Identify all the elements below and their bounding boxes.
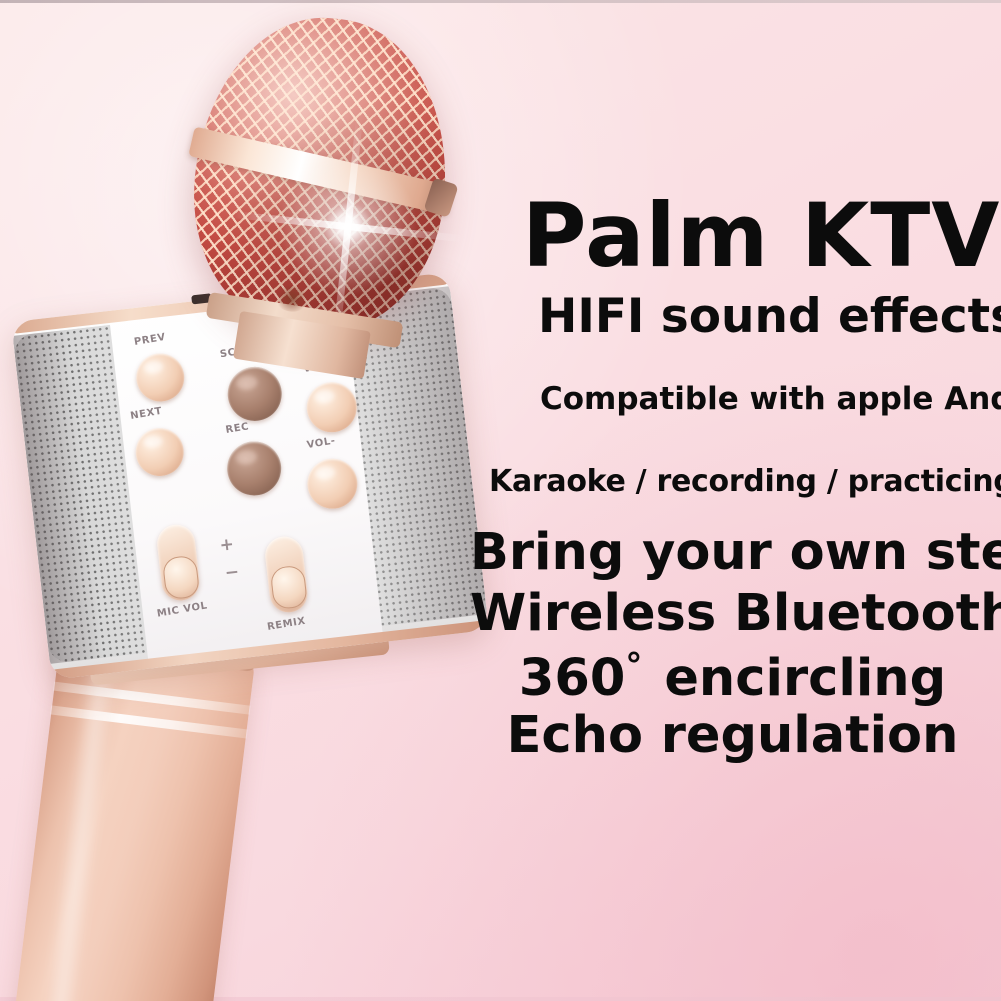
marketing-copy: Palm KTV HIFI sound effects Compatible w… — [470, 160, 995, 800]
prev-label: PREV — [133, 332, 166, 348]
scan-button[interactable] — [225, 364, 285, 424]
next-button[interactable] — [133, 426, 186, 479]
remix-slider[interactable] — [263, 535, 309, 615]
product-subtitle: HIFI sound effects — [538, 293, 1001, 340]
next-label: NEXT — [130, 406, 164, 422]
volume-up-button[interactable] — [304, 380, 359, 435]
microphone-head — [180, 6, 461, 340]
product-image-microphone: PREV NEXT SCAN REC VOL+ VOL- MIC — [0, 0, 520, 1001]
feature-line-echo: Echo regulation — [470, 710, 995, 761]
compatibility-text: Compatible with apple Android — [540, 384, 1001, 415]
feature-line-encircling: 360°encircling — [470, 649, 995, 704]
product-title: Palm KTV — [522, 192, 1000, 280]
product-banner: PREV NEXT SCAN REC VOL+ VOL- MIC — [0, 0, 1001, 1001]
rec-label: REC — [225, 421, 250, 436]
volume-up-highlight — [314, 389, 335, 404]
remix-slider-knob[interactable] — [270, 565, 309, 611]
microphone-handle — [12, 636, 255, 1001]
feature-line-bluetooth: Wireless Bluetooth — [470, 588, 995, 639]
prev-button-highlight — [143, 360, 163, 375]
minus-marker: − — [224, 562, 240, 583]
mic-volume-label: MIC VOL — [156, 600, 208, 619]
degree-symbol: ° — [625, 646, 642, 686]
next-button-highlight — [142, 434, 162, 449]
remix-label: REMIX — [266, 616, 306, 633]
mic-volume-slider-knob[interactable] — [162, 555, 201, 601]
volume-down-highlight — [314, 465, 335, 480]
use-cases-text: Karaoke / recording / practicing / liste… — [489, 467, 1001, 497]
degree-suffix: encircling — [664, 649, 946, 708]
degree-value: 360 — [519, 649, 625, 708]
plus-marker: + — [219, 534, 235, 555]
rec-button-highlight — [235, 449, 258, 465]
prev-button[interactable] — [134, 351, 187, 404]
mic-volume-slider[interactable] — [155, 523, 201, 603]
volume-down-label: VOL- — [306, 435, 336, 451]
feature-line-stereo: Bring your own stereo — [470, 527, 995, 578]
rec-button[interactable] — [224, 439, 284, 499]
volume-down-button[interactable] — [305, 456, 360, 511]
scan-button-highlight — [235, 374, 258, 390]
